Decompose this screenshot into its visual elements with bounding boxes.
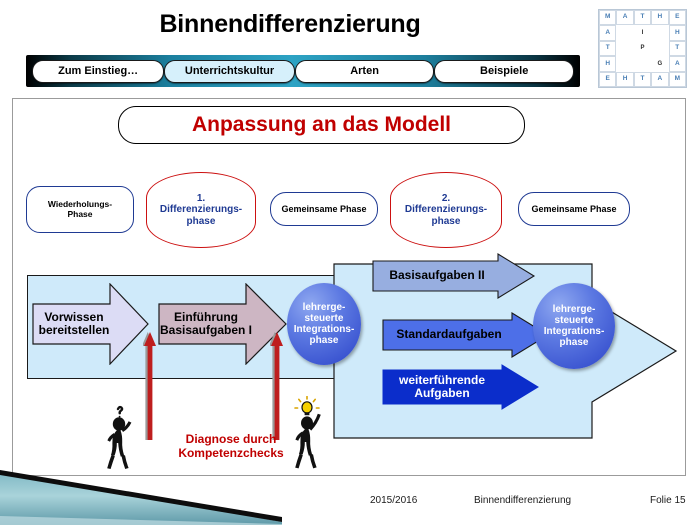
nav-tab-zum-einstieg[interactable]: Zum Einstieg… — [32, 60, 164, 83]
nav-tab-beispiele[interactable]: Beispiele — [434, 60, 574, 83]
logo-cell-1-1 — [616, 25, 633, 40]
integration-circle-2: lehrerge-steuerteIntegrations-phase — [533, 283, 615, 369]
arrow-weiterfuehrende-aufgaben — [382, 364, 540, 410]
arrow-basisaufgaben-2 — [372, 253, 536, 299]
logo-cell-3-2 — [634, 56, 651, 71]
logo-cell-1-2: I — [634, 25, 651, 40]
stick-figure-thinking-icon — [100, 403, 142, 471]
logo-cell-0-4: E — [669, 10, 686, 25]
phase-gemeinsame-phase-2: Gemeinsame Phase — [518, 192, 630, 226]
phase-gemeinsame-phase-1: Gemeinsame Phase — [270, 192, 378, 226]
logo-cell-3-4: A — [669, 56, 686, 71]
arrow-standardaufgaben — [382, 312, 550, 358]
red-up-arrow-1 — [143, 330, 157, 442]
phase-1-differenzierungsphase: 1.Differenzierungs-phase — [146, 172, 256, 248]
logo-cell-2-0: T — [599, 41, 616, 56]
footer-topic: Binnendifferenzierung — [474, 495, 571, 506]
red-up-arrow-2 — [270, 330, 284, 442]
arrow-vorwissen-bereitstellen — [32, 283, 150, 365]
logo-cell-0-3: H — [651, 10, 668, 25]
footer: 2015/2016 Binnendifferenzierung Folie 15 — [0, 495, 700, 513]
phase-wiederholungs-phase: Wiederholungs-Phase — [26, 186, 134, 233]
slide-canvas: Binnendifferenzierung MATHEAIHTPTHGAEHTA… — [0, 0, 700, 525]
logo-cell-4-0: E — [599, 72, 616, 87]
logo-cell-2-2: P — [634, 41, 651, 56]
logo-cell-3-0: H — [599, 56, 616, 71]
arrow-einfuehrung-basisaufgaben-1 — [158, 283, 288, 365]
logo-cell-4-4: M — [669, 72, 686, 87]
stick-figure-idea-icon — [285, 396, 331, 470]
logo-cell-4-1: H — [616, 72, 633, 87]
logo-cell-3-1 — [616, 56, 633, 71]
logo-cell-2-4: T — [669, 41, 686, 56]
logo-cell-0-1: A — [616, 10, 633, 25]
logo-cell-1-0: A — [599, 25, 616, 40]
logo-cell-2-3 — [651, 41, 668, 56]
navigation-bar: Zum Einstieg… Unterrichtskultur Arten Be… — [26, 55, 580, 87]
nav-tab-unterrichtskultur[interactable]: Unterrichtskultur — [164, 60, 294, 83]
mathe-ipg-logo: MATHEAIHTPTHGAEHTAM — [598, 9, 687, 88]
logo-cell-1-3 — [651, 25, 668, 40]
footer-year: 2015/2016 — [370, 495, 417, 506]
logo-cell-1-4: H — [669, 25, 686, 40]
logo-cell-0-0: M — [599, 10, 616, 25]
section-title: Anpassung an das Modell — [118, 106, 525, 144]
page-title: Binnendifferenzierung — [0, 10, 580, 39]
logo-cell-0-2: T — [634, 10, 651, 25]
nav-tab-arten[interactable]: Arten — [295, 60, 435, 83]
logo-cell-4-2: T — [634, 72, 651, 87]
phase-2-differenzierungsphase: 2.Differenzierungs-phase — [390, 172, 502, 248]
logo-cell-4-3: A — [651, 72, 668, 87]
logo-cell-3-3: G — [651, 56, 668, 71]
logo-cell-2-1 — [616, 41, 633, 56]
footer-page: Folie 15 — [650, 495, 686, 506]
integration-circle-1: lehrerge-steuerteIntegrations-phase — [287, 283, 361, 365]
